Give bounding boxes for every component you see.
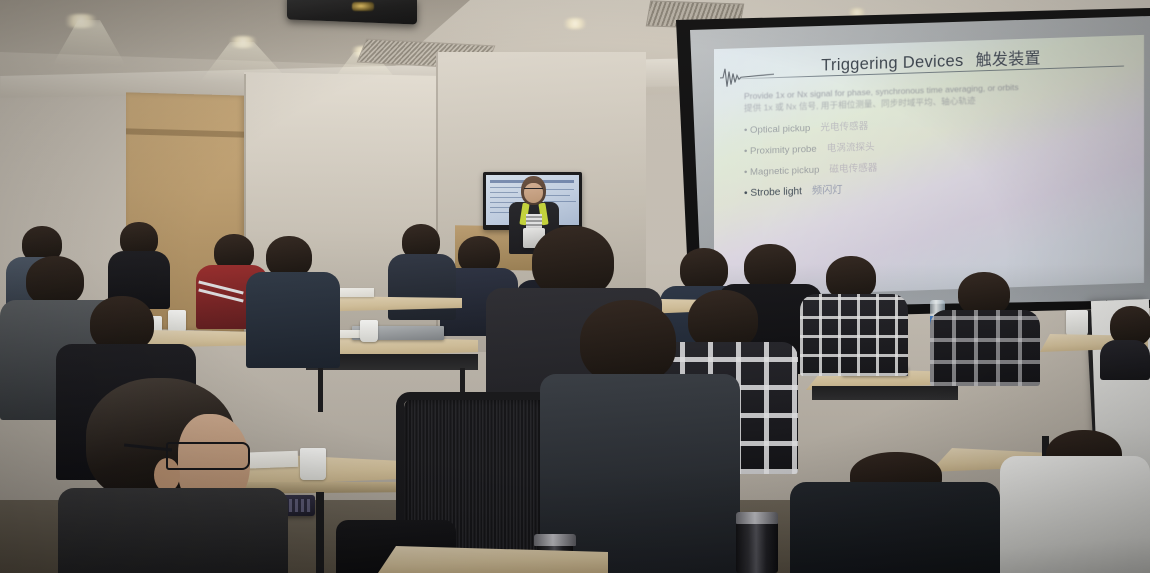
bullet-cn: 频闪灯: [812, 185, 843, 197]
attendee-torso: [246, 272, 340, 368]
glasses-icon: [166, 442, 250, 470]
bullet-en: Magnetic pickup: [750, 165, 819, 178]
presenter-face: [524, 183, 543, 203]
attendee: [246, 236, 340, 364]
bullet-en: Proximity probe: [750, 144, 817, 157]
attendee-torso: [800, 294, 908, 376]
thermos-cap: [534, 534, 576, 546]
slide-bullets: Provide 1x or Nx signal for phase, synch…: [744, 78, 1124, 200]
attendee-torso: [790, 482, 1000, 573]
glasses-icon: [524, 188, 543, 193]
desk-underside: [812, 386, 958, 400]
thermos-cap: [736, 512, 778, 524]
slide-bullet-proximity-probe: • Proximity probe电涡流探头: [744, 135, 1124, 157]
slide-title-cn: 触发装置: [976, 50, 1041, 69]
white-cup: [300, 448, 326, 480]
bullet-en: Strobe light: [750, 186, 802, 199]
thermos-bottle: [736, 516, 778, 573]
slide-lead-bullet: Provide 1x or Nx signal for phase, synch…: [744, 78, 1124, 115]
bullet-cn: 磁电传感器: [829, 163, 877, 176]
waveform-icon: [718, 61, 774, 93]
attendee-torso: [388, 254, 456, 320]
bullet-cn: 光电传感器: [820, 121, 868, 134]
attendee: [1100, 306, 1150, 376]
attendee: [930, 272, 1040, 382]
attendee: [540, 300, 740, 573]
bullet-cn: 电涡流探头: [827, 142, 875, 155]
attendee-torso: [1000, 456, 1150, 573]
attendee-torso: [1100, 340, 1150, 380]
projector-lens-icon: [352, 2, 374, 11]
slide-bullet-magnetic-pickup: • Magnetic pickup磁电传感器: [744, 156, 1124, 178]
bullet-en: Optical pickup: [750, 123, 810, 136]
attendee: [790, 452, 1000, 573]
attendee-plaid-shirt: [800, 256, 908, 374]
attendee-foreground-glasses: [28, 378, 288, 573]
slide-bullet-strobe-light: • Strobe light频闪灯: [744, 177, 1124, 200]
attendee-head: [580, 300, 676, 384]
white-cup: [1066, 310, 1088, 336]
attendee-white-shirt: [1000, 430, 1150, 573]
desk-leg: [318, 368, 323, 412]
white-cup: [360, 320, 378, 342]
desk-leg: [316, 492, 324, 573]
attendee-torso: [930, 310, 1040, 386]
slide-bullet-optical-pickup: • Optical pickup光电传感器: [744, 113, 1124, 135]
recessed-downlight: [560, 18, 590, 29]
classroom-photo: Triggering Devices触发装置 Provide 1x or Nx …: [0, 0, 1150, 573]
attendee-torso: [58, 488, 288, 573]
